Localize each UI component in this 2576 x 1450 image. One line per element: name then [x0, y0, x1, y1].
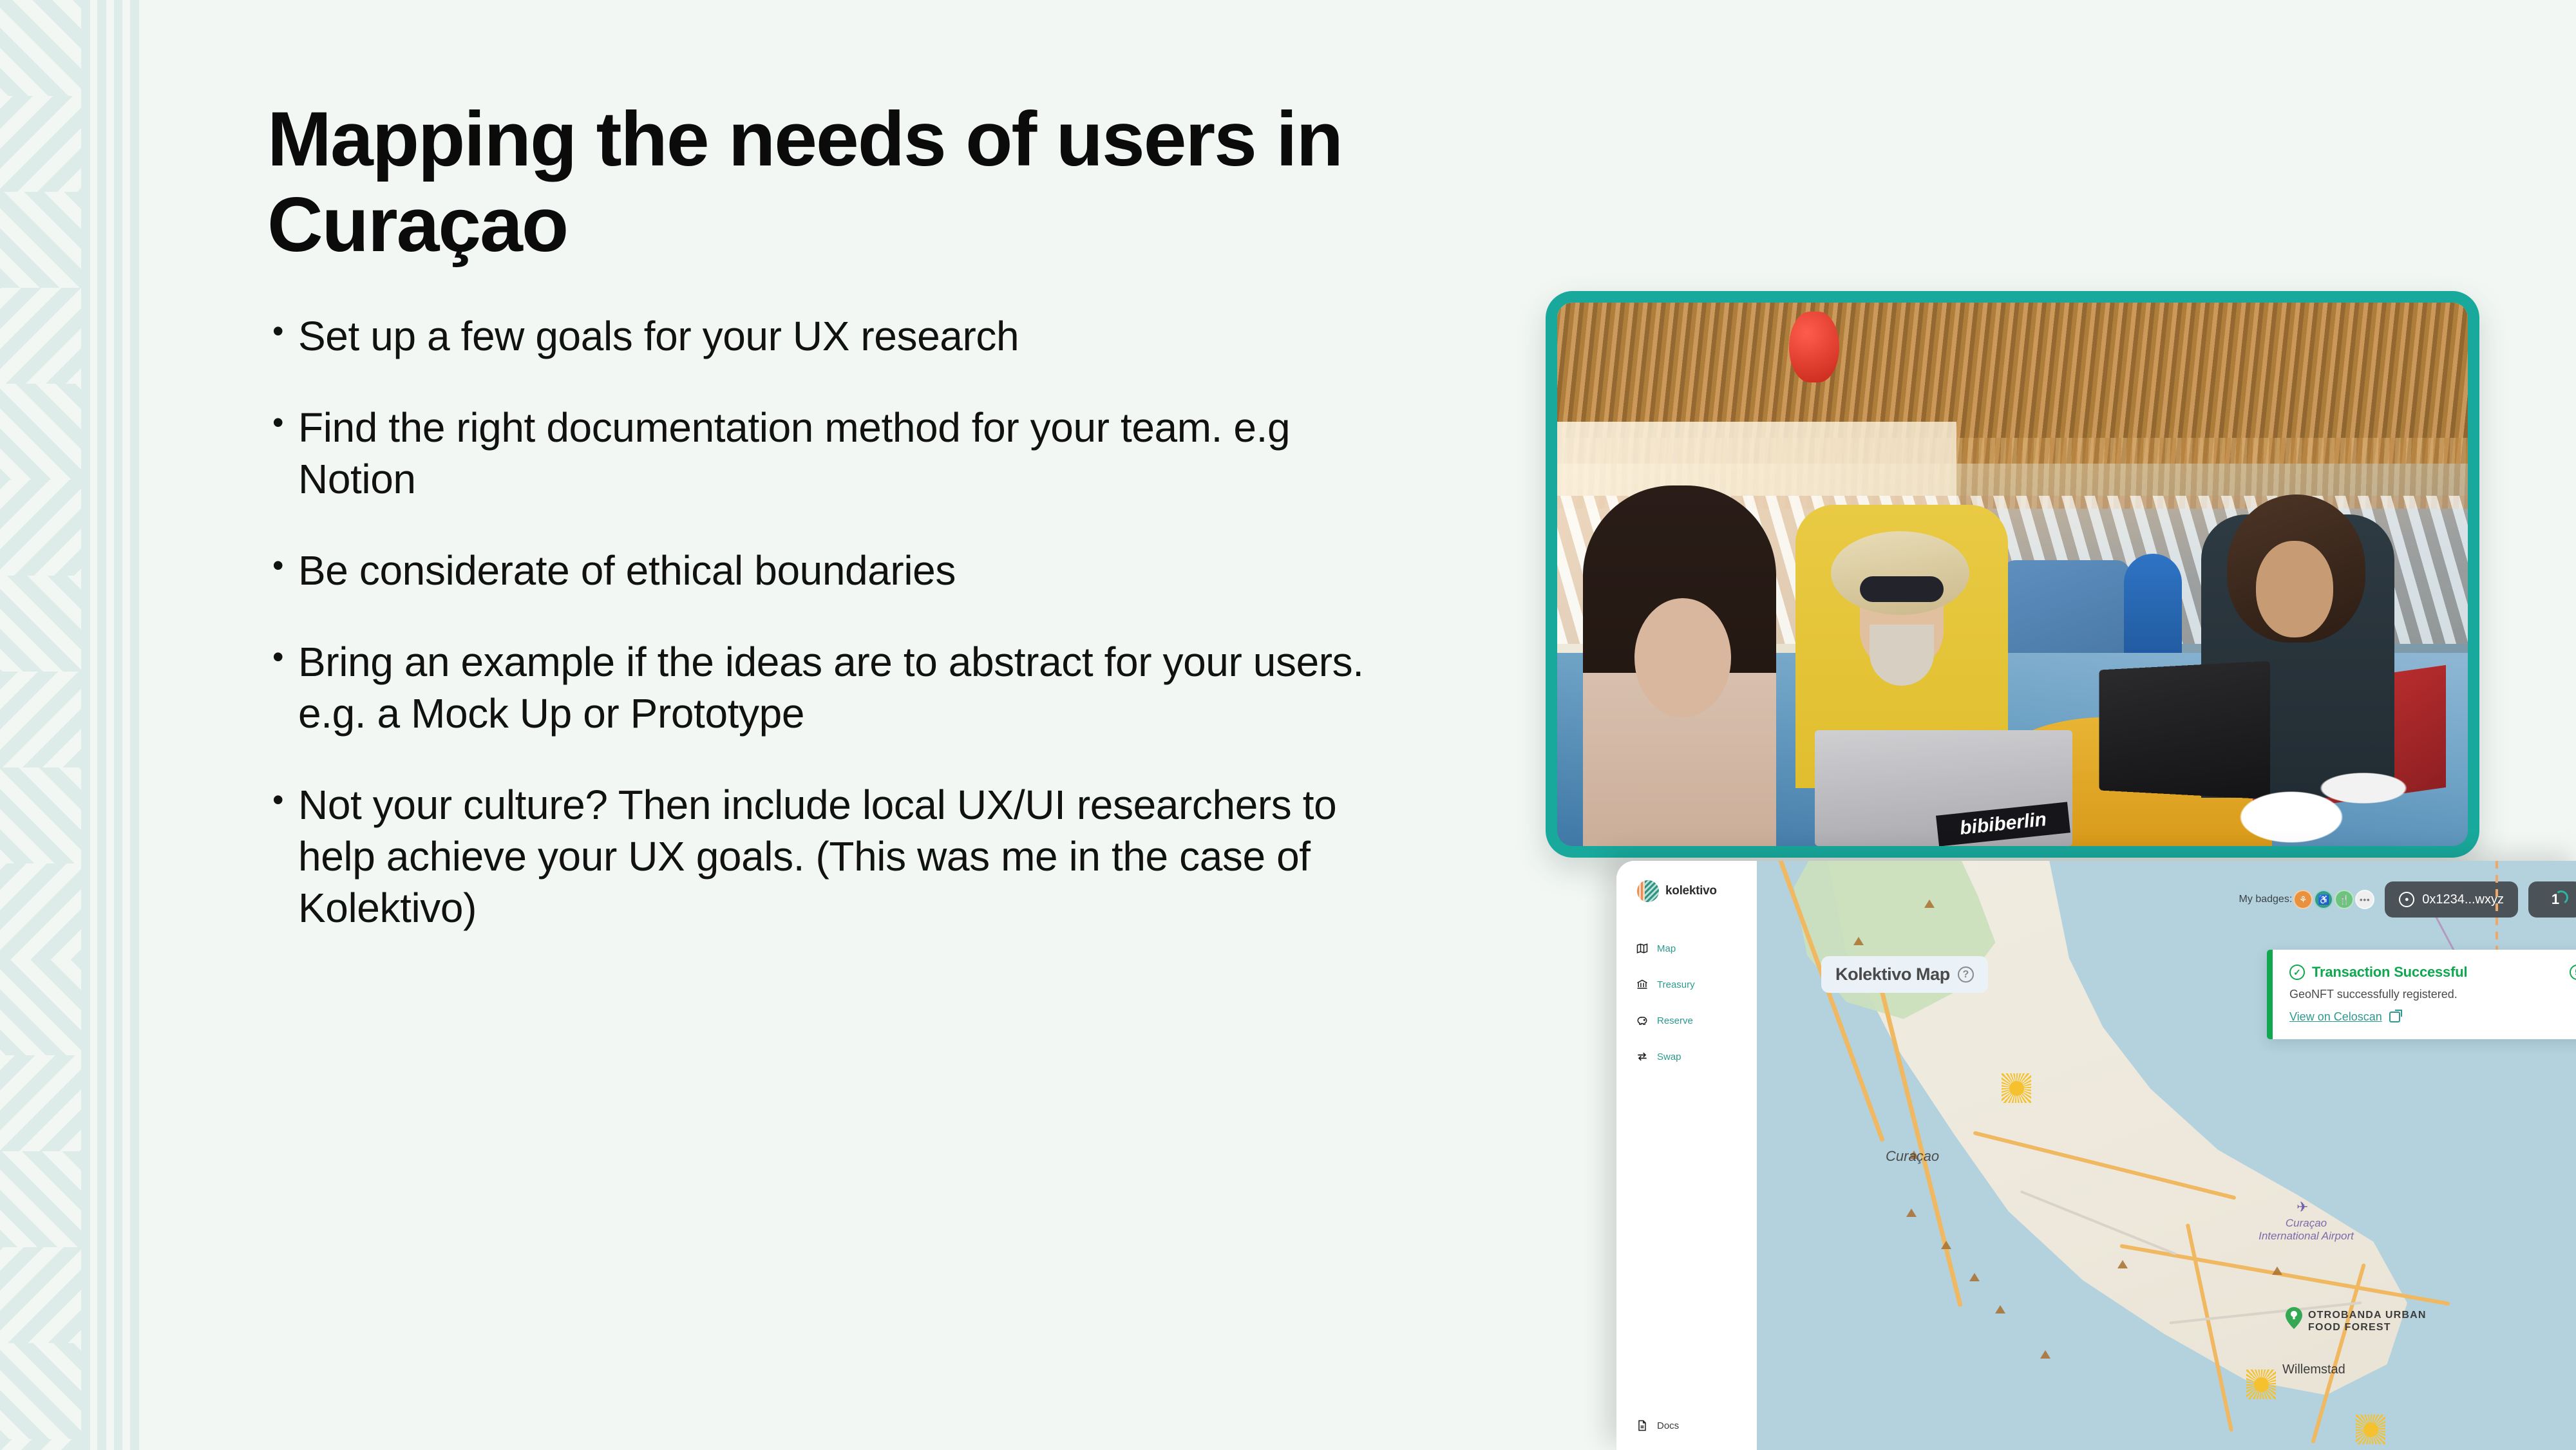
- airplane-icon: ✈: [2297, 1199, 2308, 1216]
- hill-marker: [2272, 1266, 2282, 1275]
- sunglasses: [1860, 576, 1944, 602]
- external-link-icon: [2389, 1012, 2400, 1022]
- sidebar-item-label: Docs: [1657, 1420, 1679, 1431]
- map-canvas[interactable]: Kolektivo Map ? Curaçao ✈ Curaçao Intern…: [1757, 861, 2576, 1450]
- bullet-marker: •: [267, 545, 298, 586]
- accessibility-badge-icon[interactable]: ♿: [2314, 890, 2333, 909]
- swap-arrows-icon: [1636, 1050, 1649, 1063]
- bullet-marker: •: [267, 779, 298, 820]
- list-item: • Bring an example if the ideas are to a…: [267, 636, 1465, 739]
- sidebar-item-label: Swap: [1657, 1051, 1681, 1062]
- vertical-stripe-pattern: [81, 0, 149, 1450]
- hill-marker: [1969, 1273, 1980, 1281]
- sidebar-item-swap[interactable]: Swap: [1616, 1050, 1757, 1063]
- bank-icon: [1636, 978, 1649, 991]
- list-item-text: Be considerate of ethical boundaries: [298, 545, 956, 596]
- kolektivo-app-window: kolektivo Map Treasury: [1616, 861, 2576, 1450]
- hill-marker: [1853, 937, 1864, 945]
- view-on-celoscan-link[interactable]: View on Celoscan: [2289, 1010, 2382, 1024]
- geonft-sun-marker[interactable]: [2356, 1415, 2385, 1444]
- toast-header: ✓ Transaction Successful 5: [2289, 964, 2576, 981]
- map-label-food-forest: OTROBANDA URBAN FOOD FOREST: [2308, 1309, 2437, 1333]
- map-title-card: Kolektivo Map ?: [1821, 956, 1988, 993]
- badges-group: My badges: ⚘ ♿ 🍴 •••: [2239, 890, 2375, 909]
- more-badges-icon[interactable]: •••: [2355, 890, 2374, 909]
- sidebar-item-map[interactable]: Map: [1616, 942, 1757, 955]
- straw-hat: [1831, 531, 1969, 615]
- help-icon[interactable]: ?: [1958, 966, 1974, 983]
- app-topbar: My badges: ⚘ ♿ 🍴 ••• ● 0x1234...wxyz 1: [2239, 861, 2576, 938]
- food-badge-icon[interactable]: 🍴: [2334, 890, 2354, 909]
- toast-count-badge: 5: [2570, 965, 2576, 980]
- geonft-sun-marker[interactable]: [2246, 1370, 2276, 1399]
- hill-marker: [2117, 1260, 2128, 1268]
- level-indicator-button[interactable]: 1: [2528, 881, 2576, 918]
- sidebar-item-label: Treasury: [1657, 979, 1695, 990]
- badges-label: My badges:: [2239, 894, 2293, 905]
- list-item-text: Not your culture? Then include local UX/…: [298, 779, 1419, 934]
- sidebar-item-docs[interactable]: Docs: [1616, 1419, 1757, 1450]
- chevron-pattern: [0, 0, 81, 1450]
- map-label-island: Curaçao: [1886, 1148, 1939, 1165]
- bullet-marker: •: [267, 402, 298, 443]
- map-label-city: Willemstad: [2282, 1362, 2345, 1377]
- bullet-marker: •: [267, 310, 298, 352]
- decorative-side-pattern: [0, 0, 149, 1450]
- food-forest-pin-icon[interactable]: [2286, 1307, 2302, 1329]
- piggybank-icon: [1636, 1014, 1649, 1027]
- sidebar-item-label: Reserve: [1657, 1015, 1693, 1026]
- cables: [2201, 749, 2427, 846]
- bullet-list: • Set up a few goals for your UX researc…: [267, 310, 1465, 934]
- list-item-text: Set up a few goals for your UX research: [298, 310, 1019, 362]
- geonft-sun-marker[interactable]: [2002, 1073, 2031, 1103]
- page-title: Mapping the needs of users in Curaçao: [267, 97, 1362, 268]
- list-item-text: Bring an example if the ideas are to abs…: [298, 636, 1419, 739]
- hill-marker: [1924, 899, 1935, 908]
- hill-marker: [1941, 1241, 1951, 1249]
- person-left-face: [1634, 598, 1731, 717]
- app-sidebar: kolektivo Map Treasury: [1616, 861, 1757, 1450]
- red-buoy: [1789, 312, 1839, 382]
- brand-logo[interactable]: kolektivo: [1616, 861, 1757, 902]
- account-icon: ●: [2399, 892, 2414, 907]
- toast-body-text: GeoNFT successfully registered.: [2289, 988, 2576, 1001]
- sidebar-item-reserve[interactable]: Reserve: [1616, 1014, 1757, 1027]
- transaction-toast: ✓ Transaction Successful 5 GeoNFT succes…: [2267, 950, 2576, 1039]
- list-item: • Be considerate of ethical boundaries: [267, 545, 1465, 596]
- team-photo: bibiberlin: [1546, 291, 2479, 858]
- hill-marker: [1995, 1305, 2005, 1313]
- list-item-text: Find the right documentation method for …: [298, 402, 1419, 505]
- toast-link-row[interactable]: View on Celoscan: [2289, 1010, 2576, 1024]
- geo-badge-icon[interactable]: ⚘: [2293, 890, 2313, 909]
- document-icon: [1636, 1419, 1649, 1432]
- person-right-face: [2256, 541, 2333, 637]
- brand-name: kolektivo: [1665, 884, 1717, 898]
- map-icon: [1636, 942, 1649, 955]
- sidebar-nav: Map Treasury Reserve: [1616, 942, 1757, 1063]
- laptop-sticker-text: bibiberlin: [1959, 809, 2048, 840]
- list-item: • Set up a few goals for your UX researc…: [267, 310, 1465, 362]
- toast-title: Transaction Successful: [2312, 964, 2467, 981]
- hill-marker: [1906, 1209, 1917, 1217]
- slide-text-column: Mapping the needs of users in Curaçao • …: [267, 97, 1465, 974]
- map-label-airport: Curaçao International Airport: [2258, 1217, 2354, 1242]
- sidebar-item-label: Map: [1657, 943, 1676, 954]
- kolektivo-logo-icon: [1637, 880, 1659, 902]
- success-check-icon: ✓: [2289, 965, 2305, 980]
- list-item: • Find the right documentation method fo…: [267, 402, 1465, 505]
- sidebar-item-treasury[interactable]: Treasury: [1616, 978, 1757, 991]
- hill-marker: [2040, 1350, 2050, 1359]
- list-item: • Not your culture? Then include local U…: [267, 779, 1465, 934]
- map-title: Kolektivo Map: [1835, 965, 1950, 984]
- bullet-marker: •: [267, 636, 298, 677]
- wallet-address-text: 0x1234...wxyz: [2422, 892, 2504, 907]
